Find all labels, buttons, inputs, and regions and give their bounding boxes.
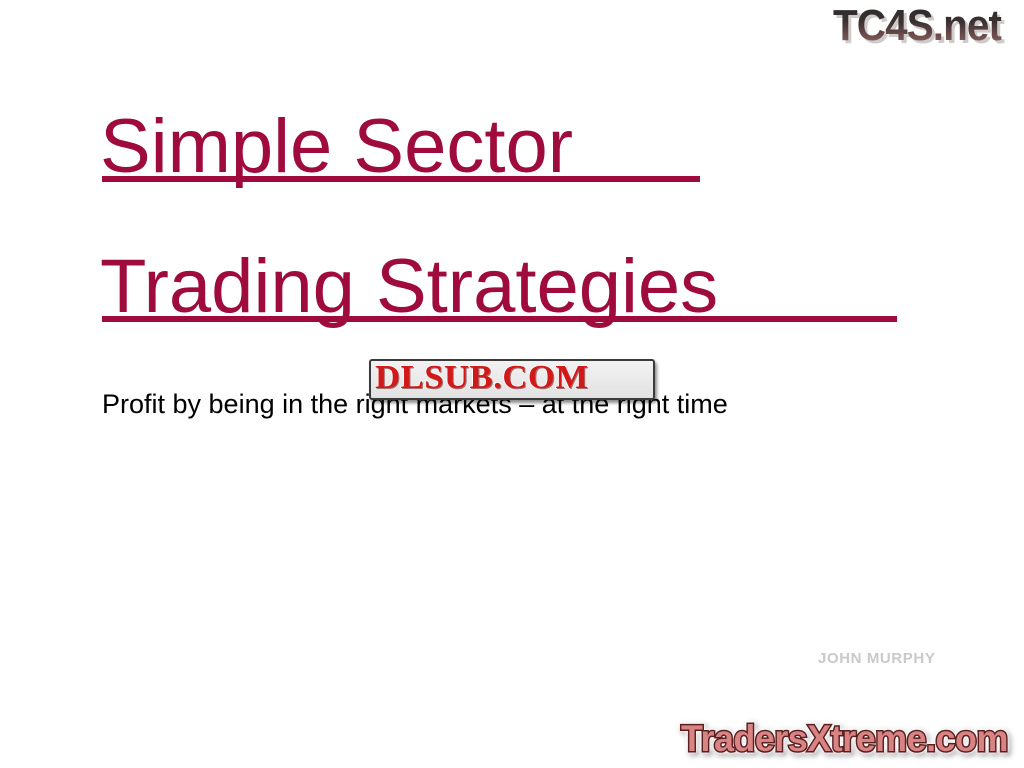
slide-title-block: Simple Sector Trading Strategies <box>100 96 960 338</box>
title-underline-2 <box>102 316 897 322</box>
tc4s-watermark: TC4S.net <box>833 2 1001 50</box>
dlsub-watermark-text: DLSUB.COM <box>375 359 589 397</box>
author-credit: JOHN MURPHY <box>818 650 935 667</box>
dlsub-watermark: DLSUB.COM <box>369 359 655 400</box>
page-title-line-2: Trading Strategies <box>100 236 960 338</box>
tradersxtreme-watermark: TradersXtreme.com <box>681 718 1008 760</box>
presentation-slide: TC4S.net TC4S.net Simple Sector Trading … <box>0 0 1024 768</box>
page-title-line-1: Simple Sector <box>100 96 960 198</box>
title-underline-1 <box>102 176 700 182</box>
